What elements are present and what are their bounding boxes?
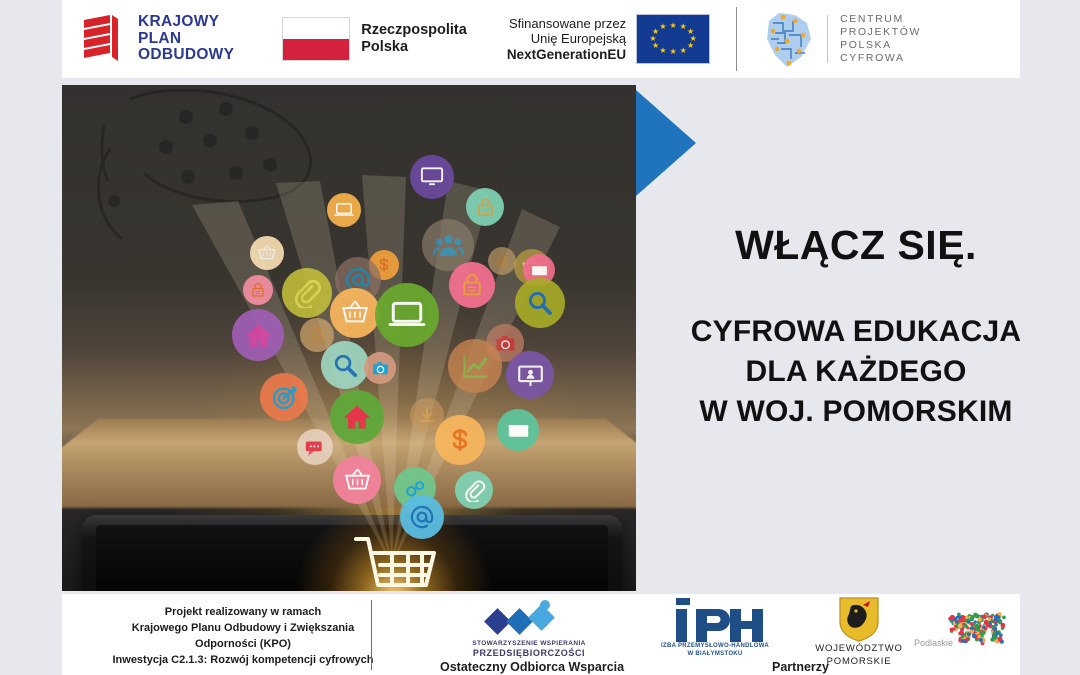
eu-funding-text: Sfinansowane przez Unię Europejską NextG… [507, 16, 626, 63]
headline-secondary-line-1: CYFROWA EDUKACJA [640, 312, 1072, 352]
bubble-monitor-icon [410, 155, 454, 199]
eu-star-icon: ★ [680, 47, 687, 55]
logo-izba-przemyslowo-handlowa: IZBA PRZEMYSŁOWO-HANDLOWA W BIAŁYMSTOKU [640, 598, 790, 658]
download-icon [417, 405, 437, 425]
kpo-line-2: PLAN [138, 31, 234, 48]
search-icon [525, 288, 555, 318]
polska-line-2: Polska [361, 39, 467, 56]
hero-photo [62, 85, 636, 591]
monitor-icon [419, 164, 445, 190]
bubble-paperclip-icon [282, 268, 332, 318]
footer-divider-1 [371, 600, 372, 670]
logo-podlaskie: Podlaskie [900, 608, 1020, 656]
cppc-line-4: CYFROWA [840, 52, 921, 65]
paperclip-icon [292, 278, 322, 308]
cppc-line-2: PROJEKTÓW [840, 26, 921, 39]
lock-icon [458, 271, 486, 299]
bubble-lock-icon [488, 247, 516, 275]
bubble-search-icon [515, 278, 565, 328]
header-divider [736, 7, 737, 71]
bubble-laptop-icon [327, 193, 361, 227]
eu-line-3: NextGenerationEU [507, 47, 626, 63]
bubble-laptop-icon [375, 283, 439, 347]
envelope-icon [530, 261, 549, 280]
shopping-cart-icon [350, 533, 442, 591]
eu-flag-icon: ★★★★★★★★★★★★ [636, 14, 710, 64]
eu-star-icon: ★ [687, 42, 694, 50]
logo-stowarzyszenie-wspierania-przedsiebiorczosci: STOWARZYSZENIE WSPIERANIA PRZEDSIĘBIORCZ… [444, 600, 614, 659]
bubble-paperclip-icon [455, 471, 493, 509]
swp-caption-large: PRZEDSIĘBIORCZOŚCI [444, 648, 614, 659]
target-icon [270, 383, 299, 412]
bubble-at-icon [400, 495, 444, 539]
laptop-icon [388, 296, 426, 334]
eu-star-icon: ★ [659, 23, 666, 31]
iph-mark-icon [660, 598, 770, 642]
bubble-lock-icon [466, 188, 504, 226]
bubble-home-icon [330, 390, 384, 444]
project-description: Projekt realizowany w ramach Krajowego P… [68, 604, 418, 668]
eu-star-icon: ★ [670, 22, 677, 30]
kpo-mark-icon [80, 14, 128, 64]
footer-partner-bar: Projekt realizowany w ramach Krajowego P… [62, 594, 1020, 675]
bubble-chat-icon [297, 429, 333, 465]
project-line-4: Inwestycja C2.1.3: Rozwój kompetencji cy… [68, 652, 418, 668]
at-icon [409, 504, 435, 530]
eu-star-icon: ★ [680, 23, 687, 31]
bubble-shopping-basket-icon [333, 456, 381, 504]
bubble-presentation-icon [506, 351, 554, 399]
bubble-lock-icon [243, 275, 273, 305]
headline-secondary-line-3: W WOJ. POMORSKIM [640, 392, 1072, 432]
project-line-2: Krajowego Planu Odbudowy i Zwiększania [68, 620, 418, 636]
chart-icon [459, 350, 491, 382]
partners-caption: Partnerzy [772, 660, 829, 674]
laptop-icon [334, 200, 354, 220]
kpo-line-3: ODBUDOWY [138, 47, 234, 64]
blue-arrow-marker [636, 90, 696, 196]
project-line-1: Projekt realizowany w ramach [68, 604, 418, 620]
bubble-camera-icon [364, 352, 396, 384]
headline-secondary: CYFROWA EDUKACJA DLA KAŻDEGO W WOJ. POMO… [640, 312, 1072, 432]
polish-flag-icon [282, 17, 350, 61]
home-icon [341, 401, 373, 433]
paperclip-icon [463, 479, 486, 502]
svg-text:Podlaskie: Podlaskie [914, 638, 953, 648]
kpo-line-1: KRAJOWY [138, 14, 234, 31]
project-line-3: Odporności (KPO) [68, 636, 418, 652]
iph-caption-2: W BIAŁYMSTOKU [640, 650, 790, 658]
shopping-basket-icon [257, 243, 277, 263]
bubble-lock-icon [449, 262, 495, 308]
home-icon [243, 320, 274, 351]
lock-icon [249, 281, 267, 299]
users-icon [433, 230, 464, 261]
camera-icon [371, 359, 390, 378]
lock-icon [307, 325, 327, 345]
logo-krajowy-plan-odbudowy: KRAJOWY PLAN ODBUDOWY [80, 0, 234, 78]
bubble-envelope-icon [497, 409, 539, 451]
beneficiary-caption: Ostateczny Odbiorca Wsparcia [440, 660, 624, 674]
eu-line-1: Sfinansowane przez [507, 16, 626, 32]
headline-secondary-line-2: DLA KAŻDEGO [640, 352, 1072, 392]
podlaskie-bison-icon: Podlaskie [910, 608, 1020, 656]
logo-rzeczpospolita-polska: Rzeczpospolita Polska [282, 0, 467, 78]
bubble-search-icon [321, 341, 369, 389]
chat-icon [304, 436, 326, 458]
cppc-line-1: CENTRUM [840, 13, 921, 26]
pomorskie-crest-icon [837, 596, 881, 642]
bubble-shopping-basket-icon [330, 288, 380, 338]
envelope-icon [506, 418, 531, 443]
kpo-wordmark: KRAJOWY PLAN ODBUDOWY [138, 14, 234, 64]
polska-line-1: Rzeczpospolita [361, 22, 467, 39]
lock-icon [494, 253, 511, 270]
polska-wordmark: Rzeczpospolita Polska [361, 22, 467, 56]
bubble-dollar-icon [435, 415, 485, 465]
eu-star-icon: ★ [652, 28, 659, 36]
cppc-wordmark: CENTRUM PROJEKTÓW POLSKA CYFROWA [840, 13, 921, 65]
bubble-chart-icon [448, 339, 502, 393]
bubble-target-icon [260, 373, 308, 421]
cppc-rule [827, 15, 828, 63]
bubble-home-icon [232, 309, 284, 361]
dollar-icon [445, 425, 475, 455]
eu-star-icon: ★ [670, 48, 677, 56]
headline-block: WŁĄCZ SIĘ. CYFROWA EDUKACJA DLA KAŻDEGO … [640, 222, 1072, 432]
shopping-basket-icon [340, 298, 370, 328]
cppc-circuit-poland-icon [761, 9, 817, 69]
swp-mark-icon [484, 600, 574, 640]
lock-icon [474, 196, 497, 219]
logo-european-union: Sfinansowane przez Unię Europejską NextG… [507, 0, 710, 78]
cppc-line-3: POLSKA [840, 39, 921, 52]
poster-canvas: KRAJOWY PLAN ODBUDOWY Rzeczpospolita Pol… [0, 0, 1080, 675]
search-icon [331, 351, 360, 380]
iph-caption-1: IZBA PRZEMYSŁOWO-HANDLOWA [640, 642, 790, 650]
logo-centrum-projektow-polska-cyfrowa: CENTRUM PROJEKTÓW POLSKA CYFROWA [761, 0, 921, 78]
presentation-icon [516, 361, 545, 390]
swp-caption-small: STOWARZYSZENIE WSPIERANIA [444, 640, 614, 648]
bubble-shopping-basket-icon [250, 236, 284, 270]
funding-logo-bar: KRAJOWY PLAN ODBUDOWY Rzeczpospolita Pol… [62, 0, 1020, 78]
shopping-basket-icon [343, 466, 372, 495]
eu-line-2: Unię Europejską [507, 31, 626, 47]
headline-primary: WŁĄCZ SIĘ. [640, 222, 1072, 268]
eu-star-icon: ★ [659, 47, 666, 55]
